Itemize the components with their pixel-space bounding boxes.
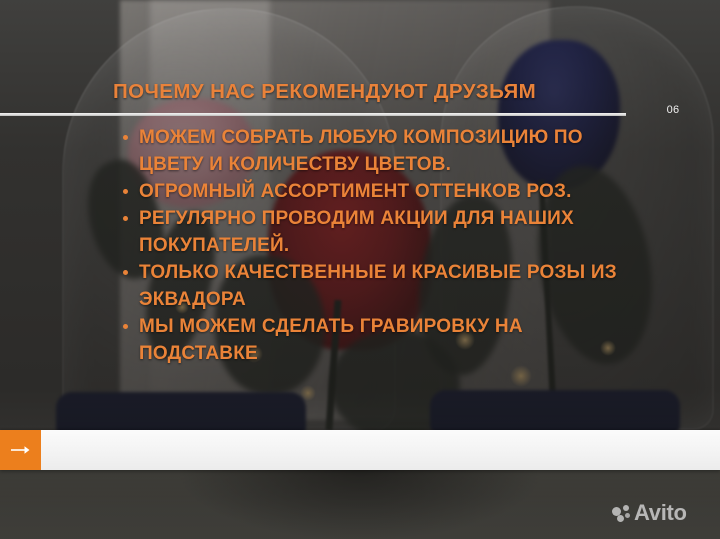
list-item: РЕГУЛЯРНО ПРОВОДИМ АКЦИИ ДЛЯ НАШИХ ПОКУП…: [122, 205, 642, 259]
page-number: 06: [660, 104, 686, 116]
slide-canvas: ПОЧЕМУ НАС РЕКОМЕНДУЮТ ДРУЗЬЯМ 06 МОЖЕМ …: [0, 0, 720, 539]
avito-wordmark: Avito: [634, 500, 687, 526]
bottom-bar: [0, 430, 720, 470]
list-item: ТОЛЬКО КАЧЕСТВЕННЫЕ И КРАСИВЫЕ РОЗЫ ИЗ Э…: [122, 259, 642, 313]
list-item: МЫ МОЖЕМ СДЕЛАТЬ ГРАВИРОВКУ НА ПОДСТАВКЕ: [122, 313, 642, 367]
avito-dots-icon: [612, 504, 631, 523]
arrow-right-icon: [10, 444, 32, 456]
avito-watermark: Avito: [612, 500, 687, 526]
page-title: ПОЧЕМУ НАС РЕКОМЕНДУЮТ ДРУЗЬЯМ: [113, 80, 536, 104]
benefits-list: МОЖЕМ СОБРАТЬ ЛЮБУЮ КОМПОЗИЦИЮ ПО ЦВЕТУ …: [122, 124, 642, 367]
next-slide-button[interactable]: [0, 430, 41, 470]
title-divider: [0, 113, 626, 116]
list-item: ОГРОМНЫЙ АССОРТИМЕНТ ОТТЕНКОВ РОЗ.: [122, 178, 642, 205]
list-item: МОЖЕМ СОБРАТЬ ЛЮБУЮ КОМПОЗИЦИЮ ПО ЦВЕТУ …: [122, 124, 642, 178]
